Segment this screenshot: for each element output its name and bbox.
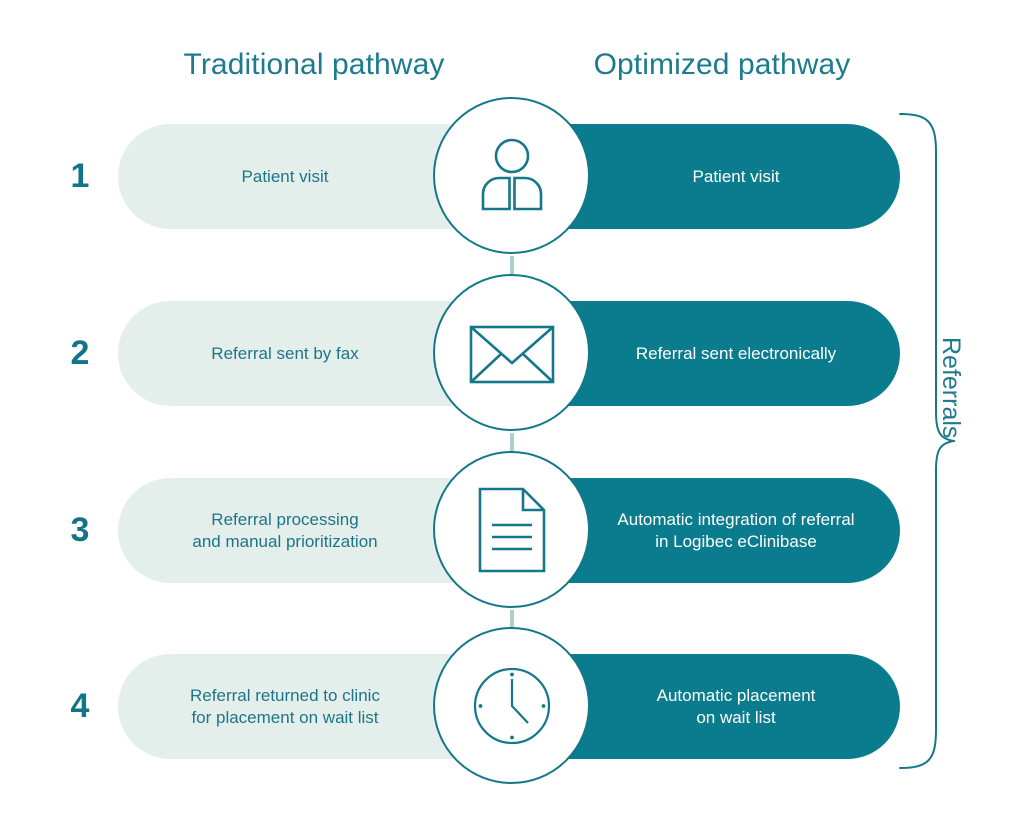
pathway-row: 2 Referral sent by fax Referral sent ele… — [0, 301, 1036, 406]
step-number: 2 — [52, 301, 108, 406]
optimized-step-label: Referral sent electronically — [576, 343, 836, 365]
column-heading-traditional: Traditional pathway — [118, 48, 510, 82]
traditional-step-label: Patient visit — [242, 166, 389, 188]
pathway-comparison-diagram: Traditional pathway Optimized pathway 1 … — [0, 0, 1036, 840]
traditional-step-label: Referral processing and manual prioritiz… — [192, 509, 437, 553]
step-icon-circle — [433, 97, 590, 254]
pathway-row: 1 Patient visit Patient visit — [0, 124, 1036, 229]
column-heading-optimized: Optimized pathway — [526, 48, 918, 82]
optimized-step-label: Automatic placement on wait list — [597, 685, 816, 729]
traditional-step-label: Referral sent by fax — [211, 343, 418, 365]
step-number: 1 — [52, 124, 108, 229]
step-icon-circle — [433, 274, 590, 431]
optimized-step-label: Automatic integration of referral in Log… — [557, 509, 854, 553]
referrals-bracket-icon — [898, 112, 982, 770]
optimized-step-label: Patient visit — [633, 166, 780, 188]
pathway-row: 4 Referral returned to clinic for placem… — [0, 654, 1036, 759]
step-number: 4 — [52, 654, 108, 759]
step-icon-circle — [433, 451, 590, 608]
pathway-row: 3 Referral processing and manual priorit… — [0, 478, 1036, 583]
patient-icon — [469, 133, 555, 219]
step-number: 3 — [52, 478, 108, 583]
traditional-step-label: Referral returned to clinic for placemen… — [190, 685, 440, 729]
envelope-icon — [468, 318, 556, 388]
step-icon-circle — [433, 627, 590, 784]
document-icon — [478, 487, 546, 573]
clock-icon — [468, 662, 556, 750]
